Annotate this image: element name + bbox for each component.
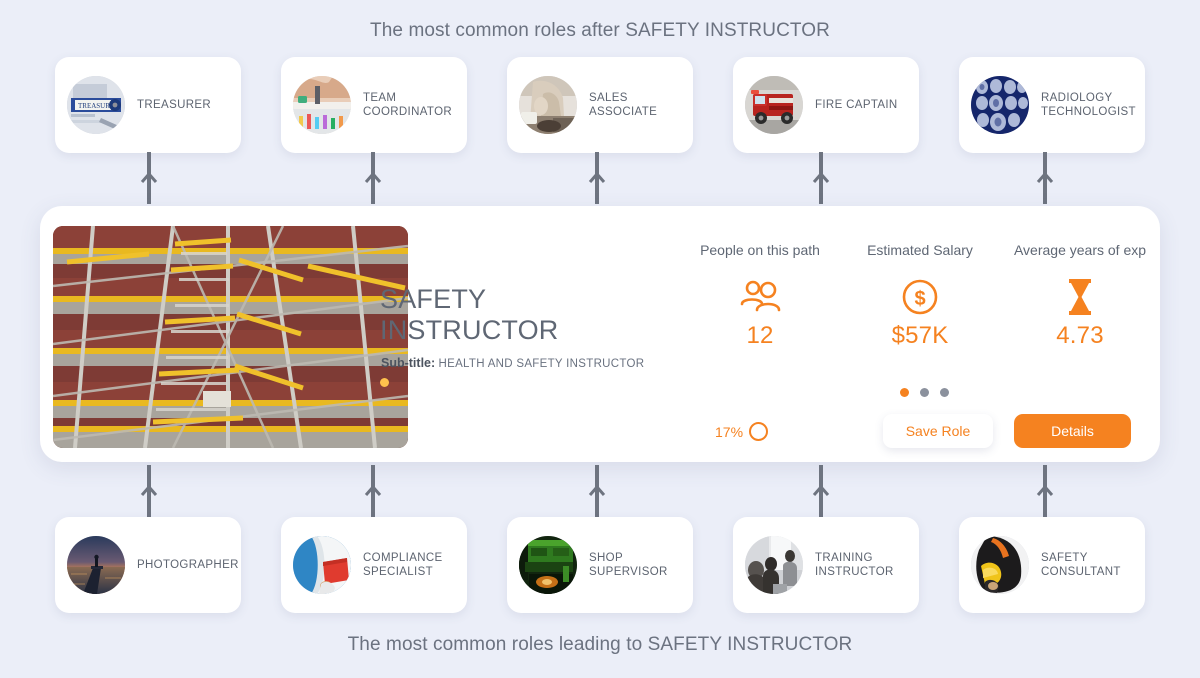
carousel-dot-3[interactable]	[940, 388, 949, 397]
mri-brain-scan-photo-icon	[971, 76, 1029, 134]
connector-arrow-up	[138, 465, 160, 517]
next-roles-row: TREASURY TREASURER	[55, 57, 1145, 153]
main-role-subtitle: Sub-title: HEALTH AND SAFETY INSTRUCTOR	[381, 356, 644, 370]
carousel-dot-2[interactable]	[920, 388, 929, 397]
role-card-label: FIRE CAPTAIN	[815, 98, 898, 112]
role-card-team-coordinator[interactable]: TEAM COORDINATOR	[281, 57, 467, 153]
match-progress-label: 17%	[715, 424, 743, 440]
connector-arrow-up	[1034, 152, 1056, 204]
role-card-label: SALES ASSOCIATE	[589, 91, 657, 119]
subtitle-key: Sub-title:	[381, 356, 435, 370]
role-card-photographer[interactable]: PHOTOGRAPHER	[55, 517, 241, 613]
stat-label: Estimated Salary	[840, 242, 1000, 258]
connector-arrow-up	[586, 465, 608, 517]
svg-text:$: $	[914, 288, 925, 310]
people-icon	[680, 274, 840, 320]
stat-estimated-salary: Estimated Salary $ $57K	[840, 242, 1000, 350]
progress-ring-icon	[749, 422, 768, 441]
stat-people-on-this-path: People on this path 12	[680, 242, 840, 350]
dollar-circle-icon: $	[840, 274, 1000, 320]
hourglass-icon	[1000, 274, 1160, 320]
role-card-label: RADIOLOGY TECHNOLOGIST	[1041, 91, 1136, 119]
classroom-training-photo-icon	[745, 536, 803, 594]
main-role-card: SAFETY INSTRUCTOR Sub-title: HEALTH AND …	[40, 206, 1160, 462]
stat-value: 4.73	[1000, 322, 1160, 350]
role-card-label: SAFETY CONSULTANT	[1041, 551, 1121, 579]
connector-arrow-up	[810, 152, 832, 204]
fire-truck-photo-icon	[745, 76, 803, 134]
role-card-compliance-specialist[interactable]: COMPLIANCE SPECIALIST	[281, 517, 467, 613]
carousel-dot-1[interactable]	[900, 388, 909, 397]
carousel-dots[interactable]	[900, 388, 949, 397]
connector-arrow-up	[810, 465, 832, 517]
connector-arrow-up	[138, 152, 160, 204]
role-card-shop-supervisor[interactable]: SHOP SUPERVISOR	[507, 517, 693, 613]
stat-label: People on this path	[680, 242, 840, 258]
card-actions: Save Role Details	[883, 414, 1131, 448]
role-card-radiology-technologist[interactable]: RADIOLOGY TECHNOLOGIST	[959, 57, 1145, 153]
match-progress: 17%	[715, 422, 768, 441]
treasury-documents-photo-icon: TREASURY	[67, 76, 125, 134]
stat-average-years-of-exp: Average years of exp 4.73	[1000, 242, 1160, 350]
stat-label: Average years of exp	[1000, 242, 1160, 258]
role-card-sales-associate[interactable]: SALES ASSOCIATE	[507, 57, 693, 153]
role-card-treasurer[interactable]: TREASURY TREASURER	[55, 57, 241, 153]
role-card-label: COMPLIANCE SPECIALIST	[363, 551, 443, 579]
sunset-pier-photo-icon	[67, 536, 125, 594]
role-card-label: TEAM COORDINATOR	[363, 91, 452, 119]
subtitle-value: HEALTH AND SAFETY INSTRUCTOR	[439, 358, 645, 370]
details-button[interactable]: Details	[1014, 414, 1131, 448]
stat-value: 12	[680, 322, 840, 350]
main-role-title: SAFETY INSTRUCTOR	[380, 284, 559, 346]
stats-row: People on this path 12 Estimated Salary …	[680, 242, 1160, 350]
connector-arrow-up	[362, 152, 384, 204]
role-card-fire-captain[interactable]: FIRE CAPTAIN	[733, 57, 919, 153]
role-card-safety-consultant[interactable]: SAFETY CONSULTANT	[959, 517, 1145, 613]
connector-arrow-up	[586, 152, 608, 204]
person-with-red-folder-photo-icon	[293, 536, 351, 594]
yellow-status-dot-icon	[380, 378, 389, 387]
scaffolding-construction-photo-icon	[53, 226, 408, 448]
role-card-training-instructor[interactable]: TRAINING INSTRUCTOR	[733, 517, 919, 613]
role-card-label: TRAINING INSTRUCTOR	[815, 551, 894, 579]
top-caption: The most common roles after SAFETY INSTR…	[0, 20, 1200, 42]
connector-arrow-up	[362, 465, 384, 517]
bottom-caption: The most common roles leading to SAFETY …	[0, 634, 1200, 656]
hands-on-desk-photo-icon	[293, 76, 351, 134]
role-card-label: TREASURER	[137, 98, 211, 112]
save-role-button[interactable]: Save Role	[883, 414, 993, 448]
role-card-label: SHOP SUPERVISOR	[589, 551, 668, 579]
previous-roles-row: PHOTOGRAPHER COMPLIANCE SPECIALIST	[55, 517, 1145, 613]
green-machinery-photo-icon	[519, 536, 577, 594]
svg-text:TREASURY: TREASURY	[78, 102, 115, 110]
role-card-label: PHOTOGRAPHER	[137, 558, 239, 572]
stat-value: $57K	[840, 322, 1000, 350]
worker-with-hardhat-photo-icon	[971, 536, 1029, 594]
shop-clerk-photo-icon	[519, 76, 577, 134]
connector-arrow-up	[1034, 465, 1056, 517]
